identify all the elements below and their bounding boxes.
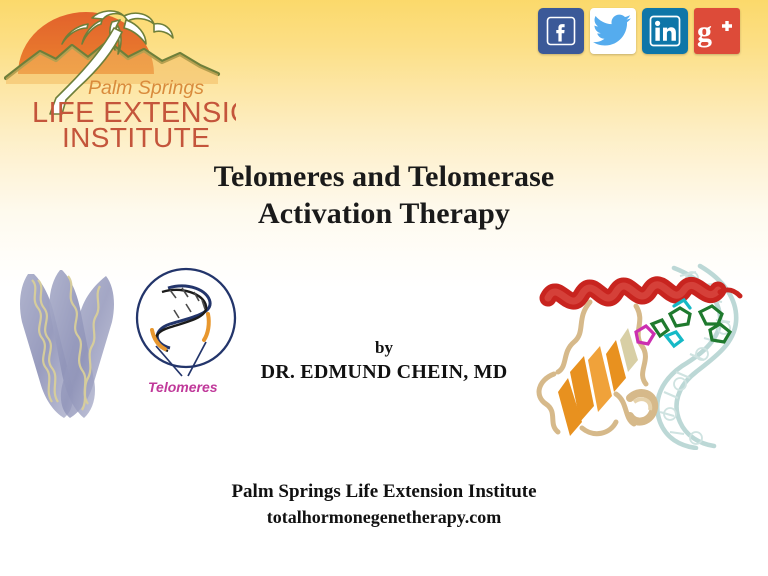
- footer-organization: Palm Springs Life Extension Institute: [0, 479, 768, 505]
- social-media-bar: g: [538, 8, 740, 54]
- page-title: Telomeres and Telomerase Activation Ther…: [0, 158, 768, 232]
- protein-alpha-helix: [548, 285, 740, 301]
- linkedin-icon[interactable]: [642, 8, 688, 54]
- telomerase-protein-dna-structure: [524, 262, 768, 450]
- logo-sub-line: INSTITUTE: [62, 122, 210, 150]
- title-line-2: Activation Therapy: [0, 195, 768, 232]
- protein-green-bases: [652, 306, 730, 342]
- protein-small-helix: [630, 393, 654, 422]
- presentation-title-slide: Palm Springs LIFE EXTENSION INSTITUTE: [0, 0, 768, 576]
- footer: Palm Springs Life Extension Institute to…: [0, 479, 768, 530]
- facebook-icon[interactable]: [538, 8, 584, 54]
- palm-springs-life-extension-institute-logo[interactable]: Palm Springs LIFE EXTENSION INSTITUTE: [4, 2, 236, 150]
- googleplus-icon[interactable]: g: [694, 8, 740, 54]
- footer-website[interactable]: totalhormonegenetherapy.com: [0, 505, 768, 530]
- title-line-1: Telomeres and Telomerase: [0, 158, 768, 195]
- svg-text:g: g: [697, 15, 712, 48]
- logo-script-line: Palm Springs: [88, 77, 204, 99]
- twitter-icon[interactable]: [590, 8, 636, 54]
